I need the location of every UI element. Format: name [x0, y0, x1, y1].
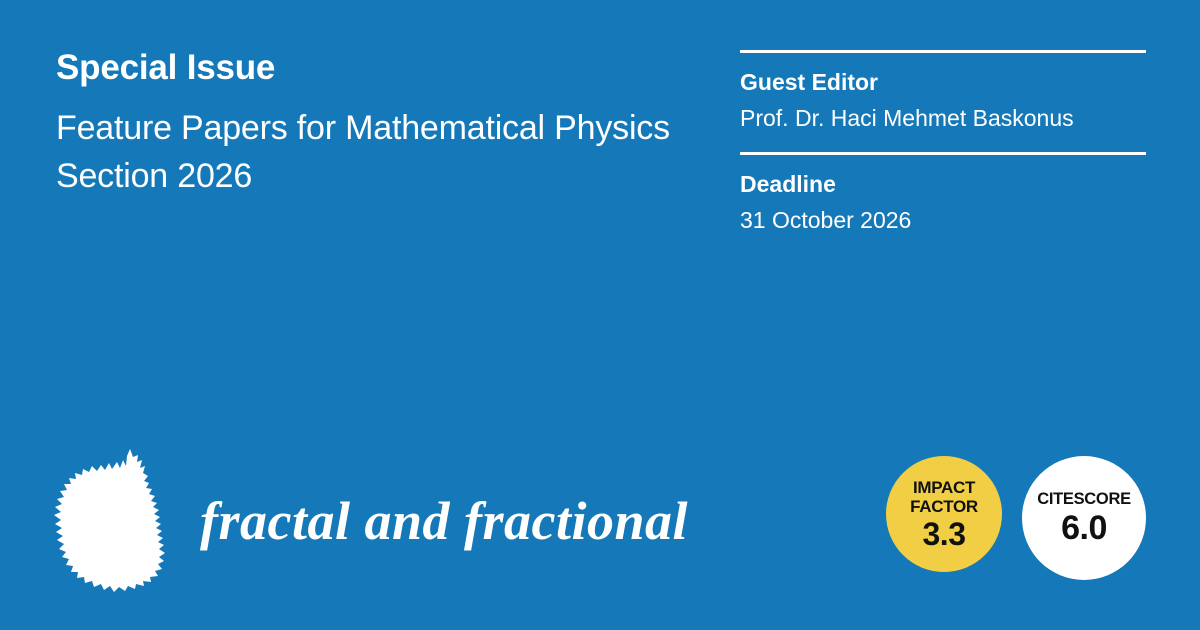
guest-editor-label: Guest Editor — [740, 67, 1146, 97]
special-issue-meta-panel: Guest Editor Prof. Dr. Haci Mehmet Basko… — [740, 50, 1146, 254]
special-issue-poster: Special Issue Feature Papers for Mathema… — [0, 0, 1200, 630]
impact-factor-label: IMPACT FACTOR — [910, 478, 978, 516]
impact-factor-label-line1: IMPACT — [913, 478, 975, 497]
impact-factor-badge: IMPACT FACTOR 3.3 — [886, 456, 1002, 572]
citescore-label: CITESCORE — [1037, 490, 1131, 509]
guest-editor-name: Prof. Dr. Haci Mehmet Baskonus — [740, 102, 1146, 134]
deadline-date: 31 October 2026 — [740, 204, 1146, 236]
journal-name: fractal and fractional — [200, 492, 688, 550]
special-issue-heading-block: Special Issue Feature Papers for Mathema… — [56, 46, 676, 200]
special-issue-title: Feature Papers for Mathematical Physics … — [56, 104, 676, 200]
special-issue-kicker: Special Issue — [56, 46, 676, 90]
impact-factor-value: 3.3 — [923, 517, 966, 551]
deadline-block: Deadline 31 October 2026 — [740, 155, 1146, 254]
fractal-island-logo-icon — [52, 448, 176, 593]
impact-factor-label-line2: FACTOR — [910, 497, 978, 516]
citescore-value: 6.0 — [1061, 510, 1107, 546]
journal-brand: fractal and fractional — [52, 448, 688, 593]
citescore-badge: CITESCORE 6.0 — [1022, 456, 1146, 580]
deadline-label: Deadline — [740, 169, 1146, 199]
metrics-badges: IMPACT FACTOR 3.3 CITESCORE 6.0 — [886, 452, 1148, 584]
guest-editor-block: Guest Editor Prof. Dr. Haci Mehmet Basko… — [740, 53, 1146, 152]
